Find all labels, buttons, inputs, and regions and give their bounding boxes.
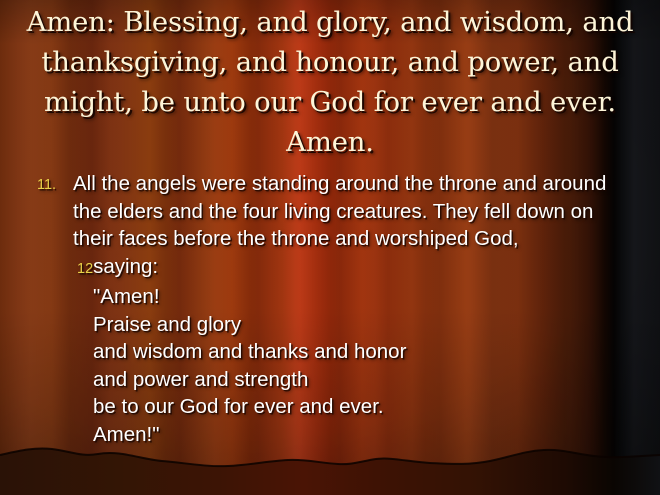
- quote-line: and power and strength: [93, 366, 620, 394]
- presentation-slide: Amen: Blessing, and glory, and wisdom, a…: [0, 0, 660, 495]
- slide-body: 11. All the angels were standing around …: [0, 170, 620, 448]
- quote-line: be to our God for ever and ever.: [93, 393, 620, 421]
- quote-line: "Amen!: [93, 283, 620, 311]
- verse-11-paragraph: 11. All the angels were standing around …: [0, 170, 620, 253]
- verse-11-text: All the angels were standing around the …: [73, 170, 620, 253]
- verse-11-number: 11.: [37, 172, 56, 200]
- verse-12-line: 12saying:: [0, 253, 620, 284]
- quotation-block: "Amen! Praise and glory and wisdom and t…: [0, 283, 620, 448]
- verse-12-number: 12: [77, 261, 93, 277]
- verse-12-text: saying:: [93, 255, 158, 278]
- quote-line: Amen!": [93, 421, 620, 449]
- quote-line: Praise and glory: [93, 311, 620, 339]
- quote-line: and wisdom and thanks and honor: [93, 338, 620, 366]
- slide-title: Amen: Blessing, and glory, and wisdom, a…: [8, 2, 652, 162]
